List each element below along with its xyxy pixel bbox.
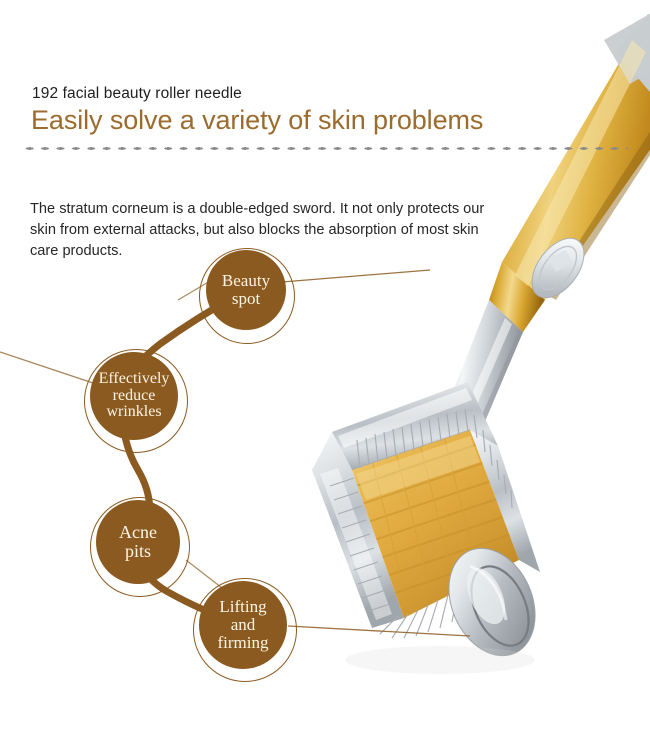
- callout-line: pits: [119, 542, 157, 561]
- callout-line: Effectively: [99, 371, 170, 388]
- callout-line: firming: [218, 634, 269, 652]
- product-marketing-image: 192 facial beauty roller needle Easily s…: [0, 0, 650, 750]
- callout-line: Acne: [119, 523, 157, 542]
- leader-line-lifting: [288, 626, 470, 636]
- callout-lifting-firming[interactable]: Lifting and firming: [199, 581, 287, 669]
- leader-line-beauty-spot: [282, 270, 430, 282]
- callout-reduce-wrinkles[interactable]: Effectively reduce wrinkles: [90, 352, 178, 440]
- callout-line: spot: [222, 290, 270, 308]
- callout-acne-pits[interactable]: Acne pits: [96, 500, 180, 584]
- callout-beauty-spot[interactable]: Beauty spot: [206, 250, 286, 330]
- callout-line: reduce: [99, 388, 170, 405]
- callout-line: Beauty: [222, 272, 270, 290]
- leader-line-wrinkles: [0, 352, 96, 384]
- callout-line: wrinkles: [99, 404, 170, 421]
- callout-line: Lifting: [218, 598, 269, 616]
- callout-line: and: [218, 616, 269, 634]
